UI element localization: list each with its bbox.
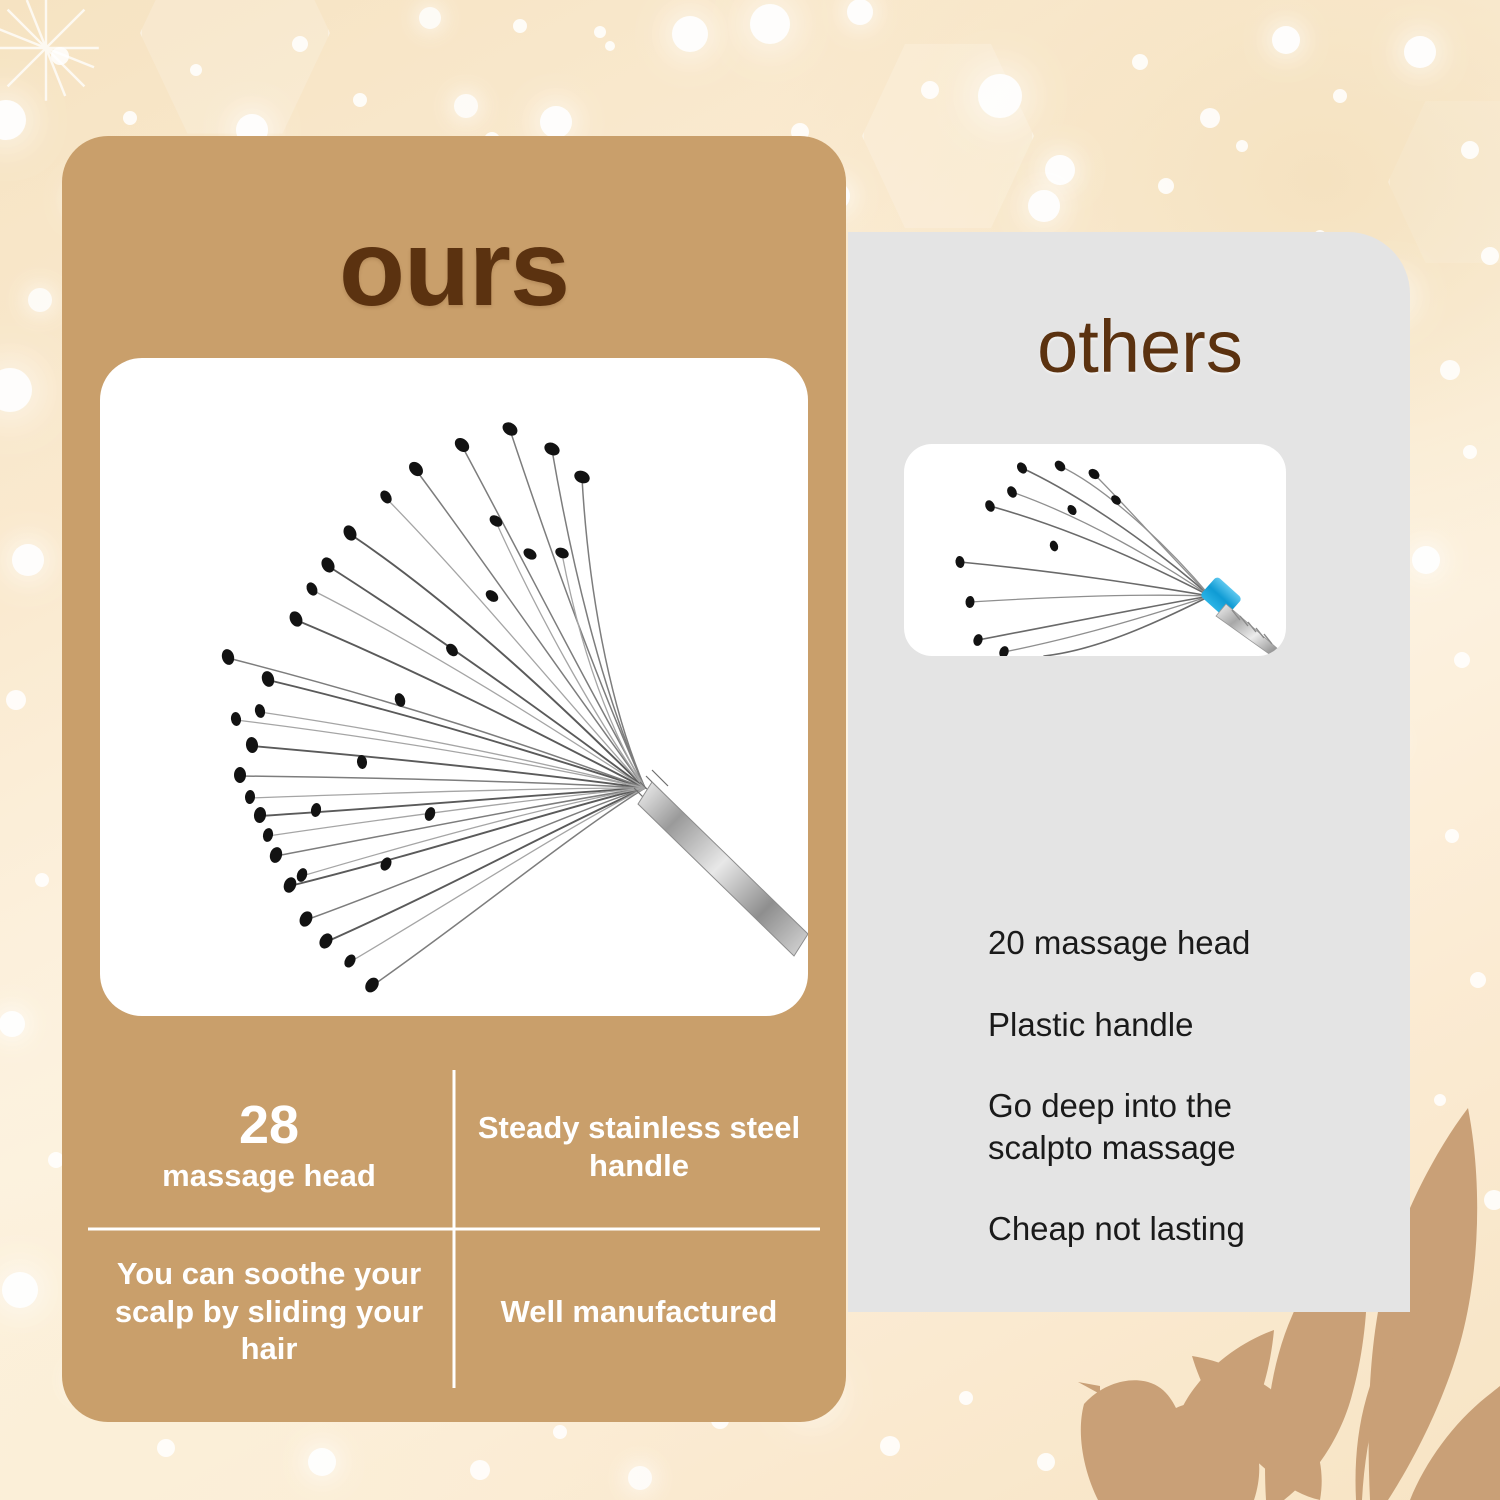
bokeh-dot (628, 1466, 652, 1490)
hexagon-decor-icon (140, 0, 330, 140)
bokeh-dot (605, 41, 615, 51)
bokeh-dot (978, 74, 1022, 118)
bokeh-dot (1404, 36, 1436, 68)
bokeh-dot (2, 1272, 38, 1308)
bokeh-dot (750, 4, 790, 44)
bokeh-dot (1412, 546, 1440, 574)
ours-feature-cell: Steady stainless steel handle (454, 1064, 824, 1229)
bokeh-dot (1481, 247, 1499, 265)
bokeh-dot (1132, 54, 1148, 70)
others-feature-item: Plastic handle (988, 1004, 1408, 1046)
bokeh-dot (1037, 1453, 1055, 1471)
ours-feature-big: 28 (239, 1098, 299, 1153)
bokeh-dot (1045, 155, 1075, 185)
ours-feature-caption: massage head (162, 1157, 376, 1195)
bokeh-dot (454, 94, 478, 118)
bokeh-dot (190, 64, 202, 76)
bokeh-dot (1440, 360, 1460, 380)
infographic-canvas: ours (0, 0, 1500, 1500)
bokeh-dot (1454, 652, 1470, 668)
scalp-massager-28-illustration (100, 358, 808, 1016)
bokeh-dot (959, 1391, 973, 1405)
bokeh-dot (0, 368, 32, 412)
ours-feature-caption: You can soothe your scalp by sliding you… (98, 1255, 440, 1368)
hexagon-decor-icon (1388, 96, 1500, 268)
bokeh-dot (1158, 178, 1174, 194)
bokeh-dot (123, 111, 137, 125)
bokeh-dot (1236, 140, 1248, 152)
others-feature-item: Cheap not lasting (988, 1208, 1408, 1250)
bokeh-dot (540, 106, 572, 138)
bokeh-dot (594, 26, 606, 38)
bokeh-dot (1434, 1094, 1446, 1106)
others-title: others (870, 310, 1410, 384)
bokeh-dot (1272, 26, 1300, 54)
bokeh-dot (308, 1448, 336, 1476)
bokeh-dot (880, 1436, 900, 1456)
bokeh-dot (28, 288, 52, 312)
bokeh-dot (12, 544, 44, 576)
bokeh-dot (672, 16, 708, 52)
others-product-photo (904, 444, 1286, 656)
bokeh-dot (35, 873, 49, 887)
bokeh-dot (6, 690, 26, 710)
others-feature-item: Go deep into the scalpto massage (988, 1085, 1408, 1168)
bokeh-dot (292, 36, 308, 52)
ours-feature-caption: Steady stainless steel handle (468, 1109, 810, 1185)
bokeh-dot (847, 0, 873, 25)
bokeh-dot (1484, 1190, 1500, 1210)
bokeh-dot (553, 1425, 567, 1439)
ours-card: ours (62, 136, 846, 1422)
sparkle-icon (0, 0, 106, 108)
bokeh-dot (419, 7, 441, 29)
bokeh-dot (1461, 141, 1479, 159)
bokeh-dot (513, 19, 527, 33)
ours-feature-caption: Well manufactured (501, 1293, 778, 1331)
ours-product-photo (100, 358, 808, 1016)
bokeh-dot (157, 1439, 175, 1457)
bokeh-dot (1112, 1400, 1124, 1412)
others-feature-list: 20 massage head Plastic handle Go deep i… (988, 922, 1408, 1290)
ours-feature-cell: 28 massage head (84, 1064, 454, 1229)
bokeh-dot (921, 81, 939, 99)
bokeh-dot (1445, 829, 1459, 843)
bokeh-dot (1470, 972, 1486, 988)
bokeh-dot (1200, 108, 1220, 128)
ours-feature-cell: You can soothe your scalp by sliding you… (84, 1229, 454, 1394)
ours-title: ours (62, 214, 846, 322)
scalp-massager-20-illustration (904, 444, 1286, 656)
ours-feature-cell: Well manufactured (454, 1229, 824, 1394)
bokeh-dot (1463, 445, 1477, 459)
bokeh-dot (1028, 190, 1060, 222)
grid-horizontal-divider (88, 1228, 820, 1231)
ours-feature-grid: 28 massage head Steady stainless steel h… (84, 1064, 824, 1394)
bokeh-dot (470, 1460, 490, 1480)
bokeh-dot (1333, 89, 1347, 103)
others-feature-item: 20 massage head (988, 922, 1408, 964)
others-card: others (848, 232, 1410, 1312)
bokeh-dot (0, 1011, 25, 1037)
bokeh-dot (353, 93, 367, 107)
hexagon-decor-icon (862, 38, 1034, 234)
